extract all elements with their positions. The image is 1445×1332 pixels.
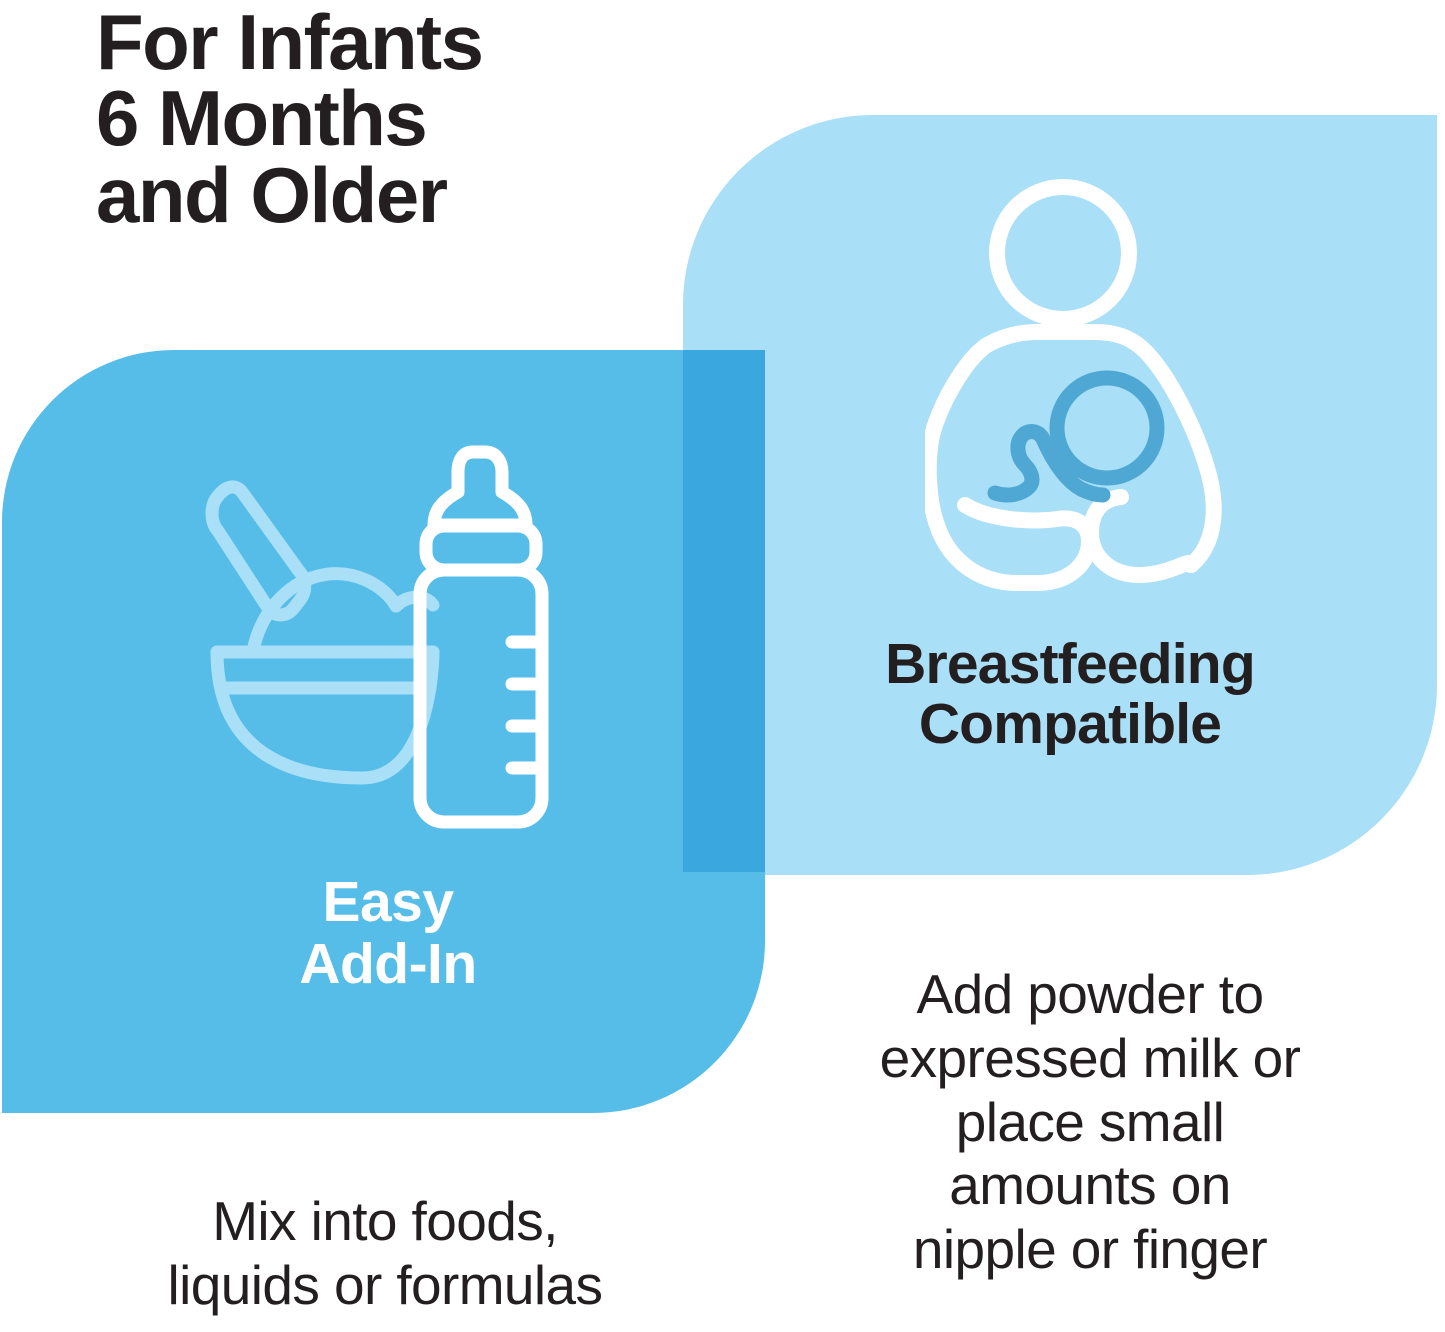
- breastfeeding-card-title: Breastfeeding Compatible: [770, 634, 1370, 755]
- infographic-canvas: For Infants 6 Months and Older: [0, 0, 1445, 1332]
- easy-add-in-caption: Mix into foods, liquids or formulas: [40, 1190, 730, 1318]
- card-overlap-strip: [683, 350, 765, 872]
- breastfeeding-caption: Add powder to expressed milk or place sm…: [790, 963, 1390, 1282]
- page-title: For Infants 6 Months and Older: [96, 4, 716, 233]
- breastfeeding-mother-and-baby-icon: [925, 175, 1255, 600]
- easy-add-in-card-title: Easy Add-In: [88, 872, 688, 995]
- bowl-and-baby-bottle-icon: [190, 430, 590, 830]
